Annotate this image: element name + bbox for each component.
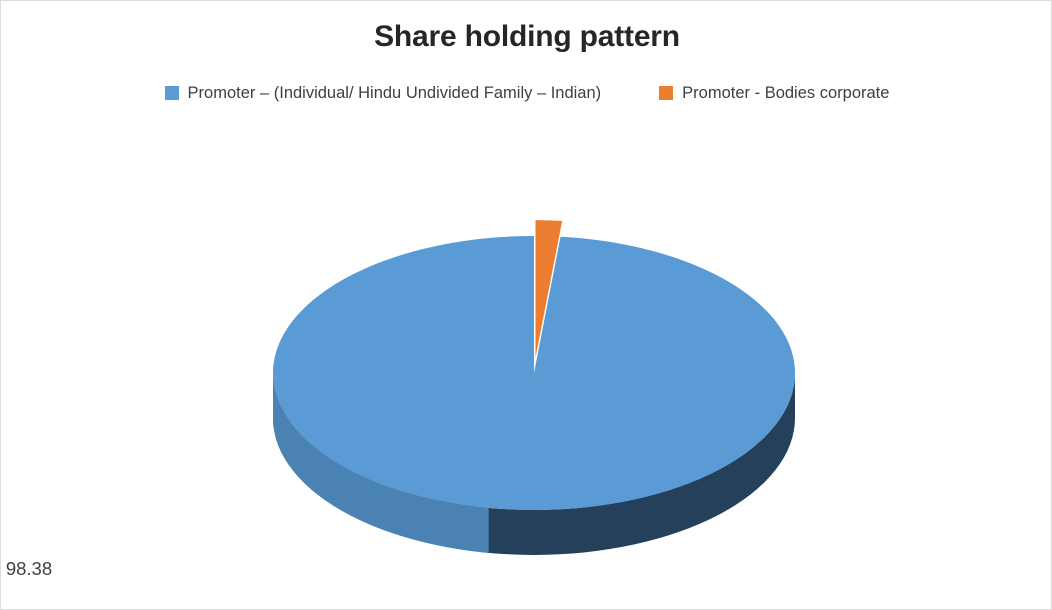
legend-item-promoter-bodies-corporate[interactable]: Promoter - Bodies corporate (659, 85, 889, 102)
pie-slice-promoter-individual[interactable] (273, 236, 795, 555)
data-label-minor: 1.62 (0, 144, 505, 166)
legend-label-promoter-bodies-corporate: Promoter - Bodies corporate (682, 85, 889, 102)
pie-plot-area (1, 121, 1052, 591)
legend-label-promoter-individual: Promoter – (Individual/ Hindu Undivided … (188, 85, 602, 102)
data-label-major: 98.38 (0, 558, 555, 580)
chart-title: Share holding pattern (1, 20, 1052, 54)
chart-container: Share holding pattern Promoter – (Indivi… (0, 0, 1052, 610)
legend-swatch-promoter-bodies-corporate (659, 86, 673, 100)
chart-legend: Promoter – (Individual/ Hindu Undivided … (1, 85, 1052, 102)
pie-slice-top-face-major (273, 236, 795, 510)
pie-chart-graphic (1, 121, 1052, 591)
legend-swatch-promoter-individual (165, 86, 179, 100)
legend-item-promoter-individual[interactable]: Promoter – (Individual/ Hindu Undivided … (165, 85, 602, 102)
